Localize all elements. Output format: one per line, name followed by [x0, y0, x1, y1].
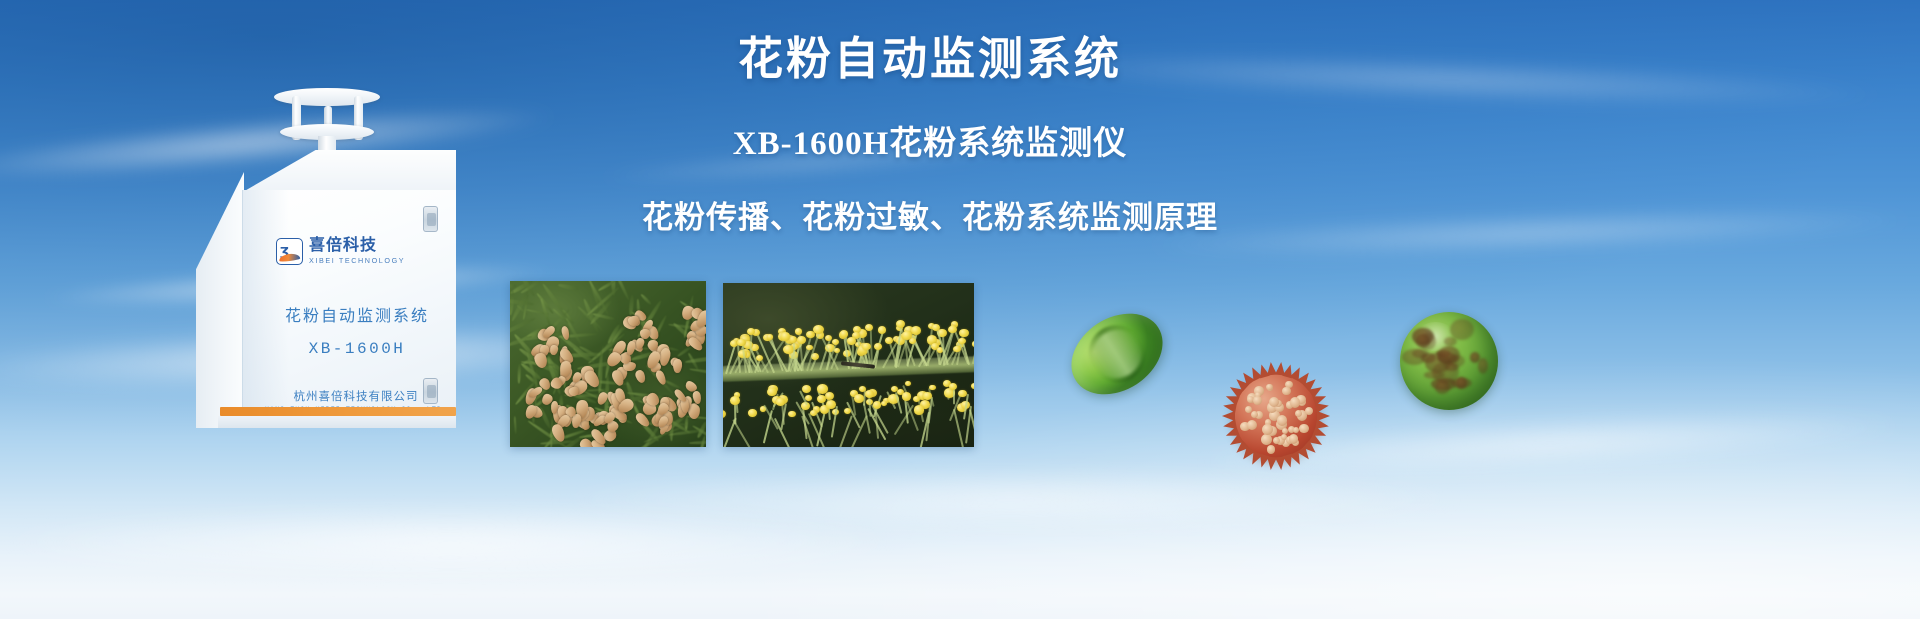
pollen-bump — [1305, 407, 1313, 415]
anther — [874, 343, 882, 350]
pollen-bump — [1282, 428, 1288, 434]
anther — [776, 398, 784, 405]
red-spiky-pollen-grain — [1224, 364, 1328, 468]
anther — [810, 410, 817, 416]
grain-ridge — [1082, 320, 1151, 389]
product-model-subtitle: XB-1600H花粉系统监测仪 — [600, 116, 1260, 164]
anther — [914, 405, 925, 414]
green-oval-pollen-grain — [1056, 297, 1177, 411]
pollen-bump — [1289, 434, 1298, 443]
anther — [873, 401, 881, 408]
cloud-streak — [560, 470, 1460, 530]
xibei-logo-icon: ʒ — [276, 238, 303, 265]
anther — [802, 385, 811, 393]
pollen-bump — [1299, 424, 1309, 434]
pollen-bump — [1253, 396, 1262, 405]
anther — [854, 394, 864, 403]
pollen-bump — [1247, 420, 1257, 430]
cabinet-top-face — [196, 150, 456, 192]
grain-surface-patch — [1478, 358, 1488, 374]
cloud-streak — [0, 508, 900, 578]
pollen-bump — [1266, 384, 1272, 390]
cabinet-left-face — [196, 172, 244, 428]
anther — [958, 338, 965, 344]
anther — [781, 332, 791, 340]
pollen-monitoring-banner: 花粉自动监测系统 XB-1600H花粉系统监测仪 花粉传播、花粉过敏、花粉系统监… — [0, 0, 1920, 619]
topics-subtitle: 花粉传播、花粉过敏、花粉系统监测原理 — [600, 192, 1260, 237]
anther — [840, 330, 848, 337]
anther — [795, 328, 803, 335]
pollen-cone — [640, 329, 650, 339]
anther — [878, 326, 886, 333]
grain-surface-patch — [1424, 371, 1446, 379]
brand-logo: ʒ 喜倍科技 XIBEI TECHNOLOGY — [276, 238, 405, 265]
pollen-bump — [1262, 424, 1273, 435]
grain-surface-patch — [1470, 352, 1480, 362]
inlet-top-disc — [274, 88, 380, 106]
brand-text: 喜倍科技 XIBEI TECHNOLOGY — [309, 238, 405, 264]
brand-name-en: XIBEI TECHNOLOGY — [309, 257, 405, 265]
green-mottled-pollen-grain — [1400, 312, 1498, 410]
pollen-bump — [1282, 387, 1290, 395]
anther — [862, 343, 871, 351]
device-product-name: 花粉自动监测系统 — [262, 302, 452, 326]
anther — [932, 324, 940, 331]
anther — [797, 336, 805, 343]
headline-text-block: 花粉自动监测系统 XB-1600H花粉系统监测仪 花粉传播、花粉过敏、花粉系统监… — [600, 34, 1260, 237]
photo-cedar-pollen-cones — [510, 281, 706, 447]
anther — [748, 409, 756, 416]
anther — [805, 395, 812, 401]
anther — [949, 383, 957, 390]
pollen-bump — [1277, 415, 1287, 425]
cloud-streak — [1150, 202, 1911, 265]
monitor-device-illustration: ʒ 喜倍科技 XIBEI TECHNOLOGY 花粉自动监测系统 XB-1600… — [196, 78, 456, 428]
photo-yellow-catkin — [723, 283, 974, 447]
anther — [929, 385, 935, 391]
anther — [902, 392, 911, 400]
pollen-bump — [1269, 397, 1279, 407]
cabinet-body: ʒ 喜倍科技 XIBEI TECHNOLOGY 花粉自动监测系统 XB-1600… — [196, 150, 456, 428]
anther — [953, 346, 960, 352]
anther — [911, 326, 921, 335]
cabinet-orange-stripe — [220, 407, 456, 416]
anther — [767, 334, 774, 340]
pollen-bump — [1290, 397, 1301, 408]
anther — [885, 337, 893, 344]
page-title: 花粉自动监测系统 — [600, 34, 1260, 84]
air-inlet-head — [274, 78, 380, 158]
anther — [813, 325, 824, 334]
pollen-bump — [1261, 434, 1272, 445]
device-company-cn: 杭州喜倍科技有限公司 — [256, 388, 456, 404]
cabinet-base — [218, 416, 456, 428]
anther — [971, 383, 974, 389]
pollen-bump — [1267, 445, 1275, 453]
anther — [730, 396, 740, 405]
grain-surface-patch — [1438, 346, 1461, 365]
brand-name-cn: 喜倍科技 — [309, 238, 405, 255]
anther — [789, 336, 797, 343]
grain-surface-patch — [1450, 319, 1473, 340]
cabinet-latch-upper — [423, 206, 438, 232]
anther — [902, 331, 912, 340]
anther — [747, 328, 755, 335]
device-model: XB-1600H — [262, 340, 452, 358]
